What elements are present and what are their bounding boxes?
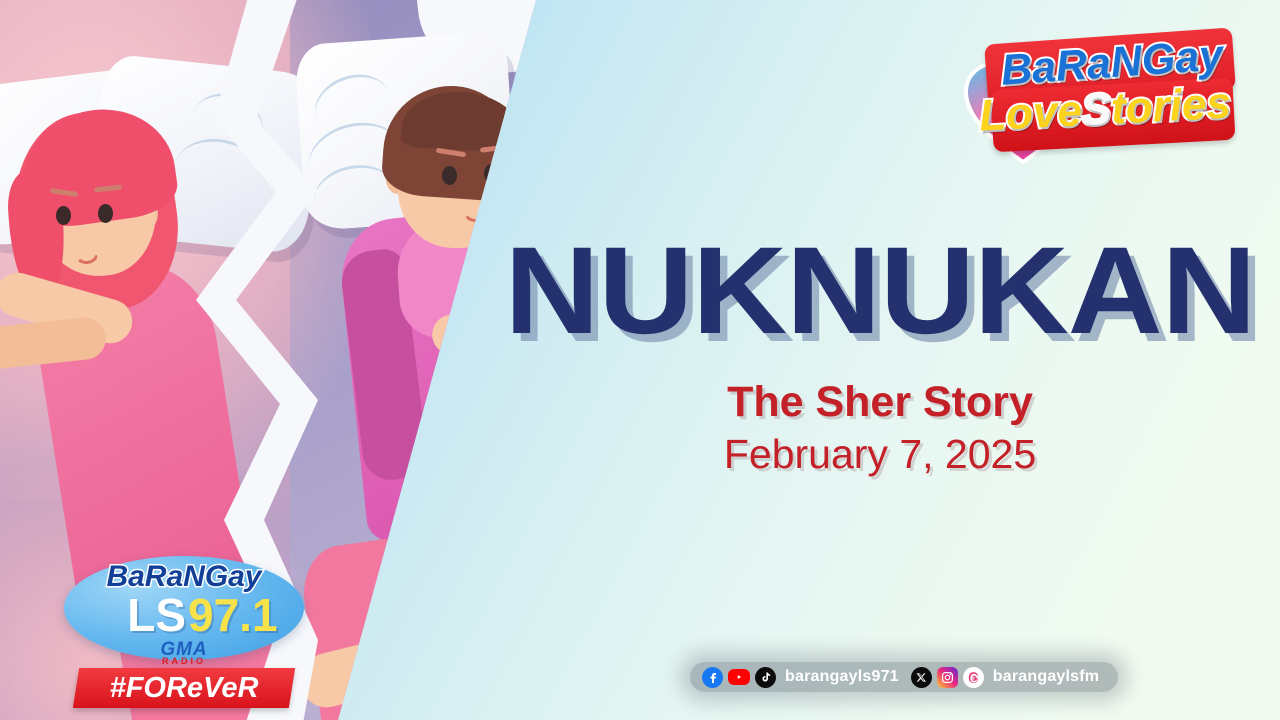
tagline-text: #FOReVeR [76, 673, 292, 705]
show-logo-l: L [978, 90, 1007, 140]
social-media-bar: barangayls971 barangaylsfm [690, 662, 1118, 692]
show-logo-s: S [1080, 85, 1112, 135]
episode-title-card: NUKNUKAN The Sher Story February 7, 2025… [0, 0, 1280, 720]
threads-icon[interactable] [963, 667, 984, 688]
youtube-icon[interactable] [728, 669, 750, 685]
episode-title: NUKNUKAN [477, 228, 1280, 354]
station-brand-text: BaRaNGay [64, 562, 304, 592]
episode-subtitle: The Sher Story [500, 380, 1260, 426]
social-handle-two[interactable]: barangaylsfm [993, 668, 1099, 686]
station-logo: BaRaNGay LS 97.1 GMA RADIO #FOReVeR [56, 552, 318, 710]
show-logo-ove: ove [1005, 86, 1083, 139]
network-logo-sub-text: RADIO [64, 656, 304, 666]
episode-date: February 7, 2025 [500, 432, 1260, 477]
facebook-icon[interactable] [702, 667, 723, 688]
social-handle-one[interactable]: barangayls971 [785, 668, 899, 686]
station-frequency-text: 97.1 [188, 592, 300, 638]
x-twitter-icon[interactable] [911, 667, 932, 688]
show-logo-tories: tories [1110, 78, 1232, 133]
show-logo: BaRaNGay LoveStories [964, 22, 1240, 166]
tiktok-icon[interactable] [755, 667, 776, 688]
instagram-icon[interactable] [937, 667, 958, 688]
title-block: NUKNUKAN The Sher Story February 7, 2025 [500, 228, 1260, 477]
station-callsign-text: LS [76, 592, 186, 638]
